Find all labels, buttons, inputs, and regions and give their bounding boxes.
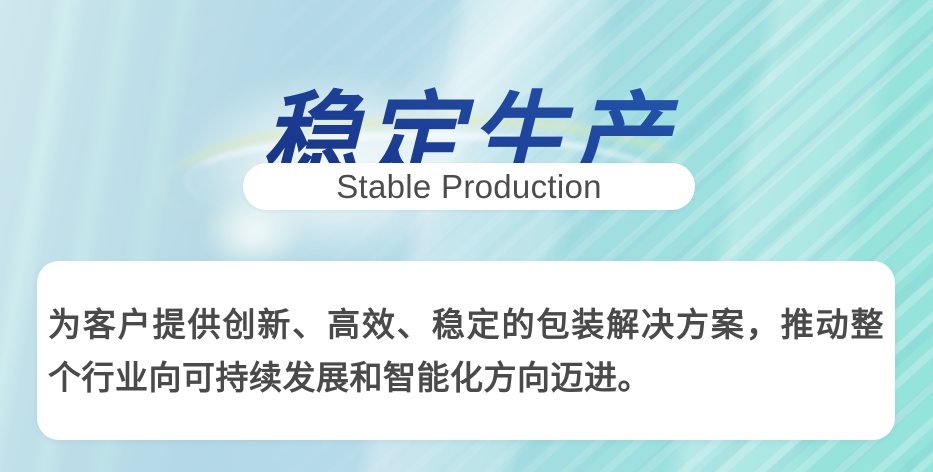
stable-production-banner: 稳定生产 Stable Production 为客户提供创新、高效、稳定的包装解… — [0, 0, 933, 472]
description-text: 为客户提供创新、高效、稳定的包装解决方案，推动整个行业向可持续发展和智能化方向迈… — [37, 298, 895, 404]
description-card: 为客户提供创新、高效、稳定的包装解决方案，推动整个行业向可持续发展和智能化方向迈… — [37, 261, 895, 440]
subtitle-pill: Stable Production — [243, 163, 695, 210]
subtitle-text: Stable Production — [336, 168, 602, 206]
